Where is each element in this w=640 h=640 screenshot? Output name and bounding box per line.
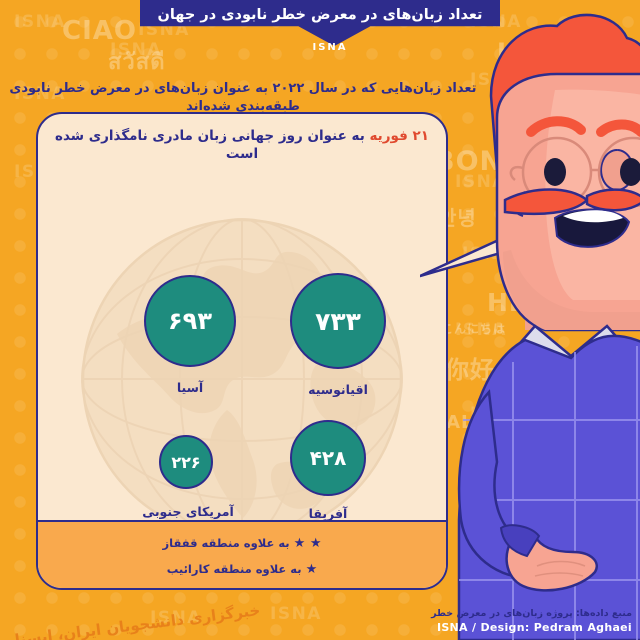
footnote-text-0: به علاوه منطقه قفقاز [163,536,290,550]
brand-label: ISNA [10,42,640,53]
watermark-isna-0: ISNA [14,12,66,32]
bubble-label-1: اقیانوسیه [132,382,448,397]
watermark-isna-13: ISNA [270,604,322,624]
bubble-value-2: ۲۲۶ [159,435,213,489]
credit-design: ISNA / Design: Pedram Aghaei [431,621,632,634]
bubble-value-1: ۷۳۳ [290,273,386,369]
main-content-card: ۲۱ فوریه به عنوان روز جهانی زبان مادری ن… [36,112,448,590]
infographic-canvas: CIAOสวัสดีHOLABONJUOR안녕สวัสดีHELLOこんにちは你… [0,0,640,640]
bubble-value-0: ۶۹۳ [144,275,236,367]
bubble-label-3: آفریقا [122,506,448,521]
footnote-row-0: ★ ★ به علاوه منطقه قفقاز [38,536,446,551]
page-subtitle: تعداد زبان‌هایی که در سال ۲۰۲۲ به عنوان … [8,80,478,115]
bubble-chart: ۶۹۳آسیا۷۳۳اقیانوسیه۲۲۶آمریکای جنوبی۴۲۸آف… [38,114,446,588]
footnote-stars-1: ★ [306,562,318,577]
bubble-value-3: ۴۲۸ [290,420,366,496]
card-footnotes: ★ ★ به علاوه منطقه قفقاز ★ به علاوه منطق… [38,520,446,588]
footnote-row-1: ★ به علاوه منطقه کارائیب [38,562,446,577]
credits-block: منبع داده‌ها: پروژه زبان‌های در معرض خطر… [431,608,632,634]
credit-source: منبع داده‌ها: پروژه زبان‌های در معرض خطر [431,608,632,619]
footnote-stars-0: ★ ★ [294,536,322,551]
footnote-text-1: به علاوه منطقه کارائیب [167,562,302,576]
page-title: تعداد زبان‌های در معرض خطر نابودی در جها… [150,6,490,25]
